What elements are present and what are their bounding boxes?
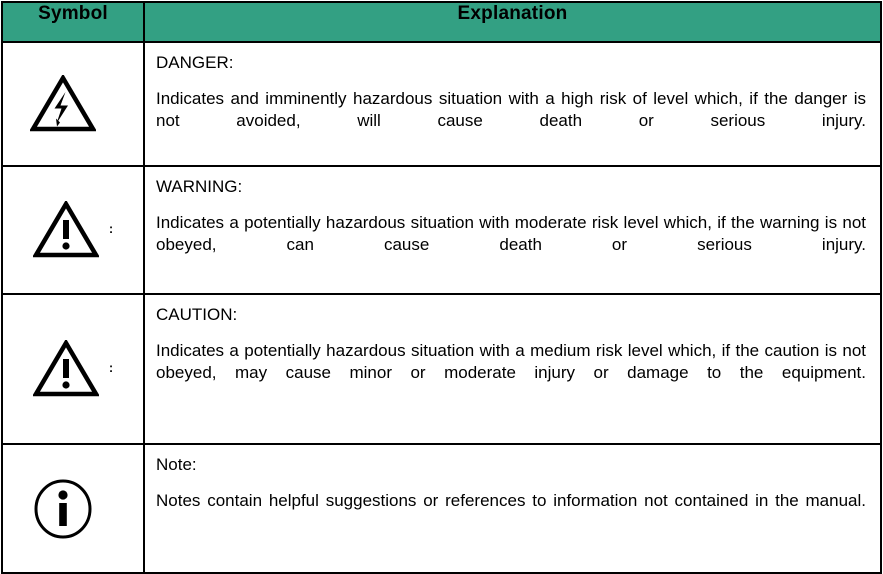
symbol-cell-caution: : (2, 294, 144, 444)
symbol-cell-danger (2, 42, 144, 166)
table-row: Note: Notes contain helpful suggestions … (2, 444, 881, 573)
warning-triangle-icon (33, 201, 99, 259)
row-body-danger: Indicates and imminently hazardous situa… (156, 88, 866, 154)
table-header-row: Symbol Explanation (2, 2, 881, 42)
row-body-caution: Indicates a potentially hazardous situat… (156, 340, 866, 406)
column-header-explanation: Explanation (144, 2, 881, 42)
explanation-cell-warning: WARNING: Indicates a potentially hazardo… (144, 166, 881, 294)
note-info-icon (32, 478, 94, 540)
column-header-symbol: Symbol (2, 2, 144, 42)
explanation-cell-caution: CAUTION: Indicates a potentially hazardo… (144, 294, 881, 444)
table-body: DANGER: Indicates and imminently hazardo… (2, 42, 881, 573)
danger-electric-shock-icon (30, 75, 96, 133)
symbol-cell-warning: : (2, 166, 144, 294)
explanation-cell-note: Note: Notes contain helpful suggestions … (144, 444, 881, 573)
table-row: : CAUTION: Indicates a potentially hazar… (2, 294, 881, 444)
row-body-warning: Indicates a potentially hazardous situat… (156, 212, 866, 278)
caution-triangle-icon (33, 340, 99, 398)
row-title-warning: WARNING: (156, 176, 866, 198)
table-row: DANGER: Indicates and imminently hazardo… (2, 42, 881, 166)
row-title-danger: DANGER: (156, 52, 866, 74)
row-title-note: Note: (156, 454, 866, 476)
row-title-caution: CAUTION: (156, 304, 866, 326)
icon-marker-caution: : (109, 361, 113, 374)
icon-marker-warning: : (109, 222, 113, 235)
safety-symbols-table: Symbol Explanation DA (1, 1, 882, 574)
row-body-note: Notes contain helpful suggestions or ref… (156, 490, 866, 534)
symbol-cell-note (2, 444, 144, 573)
table-header: Symbol Explanation (2, 2, 881, 42)
table-row: : WARNING: Indicates a potentially hazar… (2, 166, 881, 294)
explanation-cell-danger: DANGER: Indicates and imminently hazardo… (144, 42, 881, 166)
